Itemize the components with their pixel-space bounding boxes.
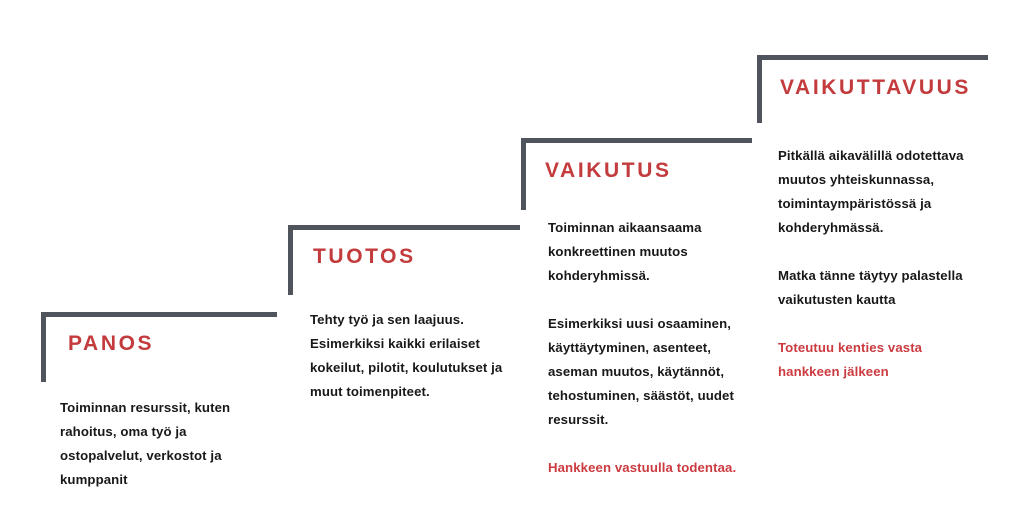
step-body-paragraph: Toiminnan aikaansaama konkreettinen muut… <box>548 216 740 288</box>
step-note-vaikutus: Hankkeen vastuulla todentaa. <box>548 456 740 480</box>
bracket-top-rule <box>521 138 752 143</box>
step-title-panos: PANOS <box>68 333 154 354</box>
diagram-canvas: PANOS Toiminnan resurssit, kuten rahoitu… <box>0 0 1024 532</box>
step-body-paragraph: Esimerkiksi uusi osaaminen, käyttäytymin… <box>548 312 740 432</box>
bracket-left-rule <box>288 225 293 295</box>
bracket-left-rule <box>41 312 46 382</box>
bracket-left-rule <box>757 55 762 123</box>
step-title-vaikuttavuus: VAIKUTTAVUUS <box>780 77 971 98</box>
step-body-paragraph: Pitkällä aikavälillä odotettava muutos y… <box>778 144 974 240</box>
step-body-paragraph: Toiminnan resurssit, kuten rahoitus, oma… <box>60 396 246 492</box>
step-title-tuotos: TUOTOS <box>313 246 416 267</box>
step-note-vaikuttavuus: Toteutuu kenties vasta hankkeen jälkeen <box>778 336 974 384</box>
bracket-left-rule <box>521 138 526 210</box>
step-body-tuotos: Tehty työ ja sen laajuus. Esimerkiksi ka… <box>310 308 516 404</box>
bracket-top-rule <box>757 55 988 60</box>
step-body-vaikutus: Toiminnan aikaansaama konkreettinen muut… <box>548 216 740 480</box>
step-body-panos: Toiminnan resurssit, kuten rahoitus, oma… <box>60 396 246 492</box>
step-body-paragraph: Matka tänne täytyy palastella vaikutuste… <box>778 264 974 312</box>
bracket-top-rule <box>41 312 277 317</box>
step-body-vaikuttavuus: Pitkällä aikavälillä odotettava muutos y… <box>778 144 974 384</box>
step-title-vaikutus: VAIKUTUS <box>545 160 672 181</box>
bracket-top-rule <box>288 225 520 230</box>
step-body-paragraph: Tehty työ ja sen laajuus. Esimerkiksi ka… <box>310 308 516 404</box>
